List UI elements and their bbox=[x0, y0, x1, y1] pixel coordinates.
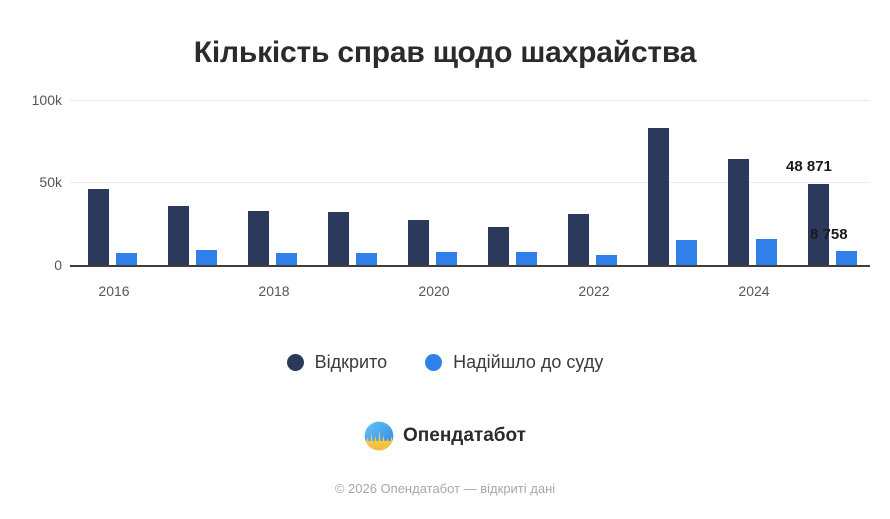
bar-open-2016[interactable] bbox=[88, 189, 109, 265]
chart-title: Кількість справ щодо шахрайства bbox=[0, 36, 890, 70]
bar-open-2018[interactable] bbox=[248, 211, 269, 265]
legend-item-court[interactable]: Надійшло до суду bbox=[425, 352, 603, 373]
data-label-court-2025: 8 758 bbox=[810, 226, 848, 243]
bar-court-2016[interactable] bbox=[116, 253, 137, 265]
brand-name: Опендатабот bbox=[403, 425, 526, 447]
y-tick-50k: 50k bbox=[2, 174, 62, 190]
bar-open-2021[interactable] bbox=[488, 227, 509, 265]
bar-open-2020[interactable] bbox=[408, 220, 429, 265]
bar-open-2024[interactable] bbox=[728, 159, 749, 265]
bar-group-2024 bbox=[728, 100, 778, 265]
legend-item-open[interactable]: Відкрито bbox=[287, 352, 388, 373]
bar-court-2017[interactable] bbox=[196, 250, 217, 265]
data-label-open-2025: 48 871 bbox=[786, 158, 832, 175]
bar-group-2016 bbox=[88, 100, 138, 265]
bar-open-2019[interactable] bbox=[328, 212, 349, 265]
legend-color-dot bbox=[425, 354, 442, 371]
bar-court-2020[interactable] bbox=[436, 252, 457, 265]
x-axis: 20162018202020222024 bbox=[70, 283, 870, 305]
bar-group-2018 bbox=[248, 100, 298, 265]
bar-court-2019[interactable] bbox=[356, 253, 377, 265]
bar-court-2023[interactable] bbox=[676, 240, 697, 265]
bar-group-2017 bbox=[168, 100, 218, 265]
plot-area bbox=[70, 95, 870, 270]
y-axis: 100k 50k 0 bbox=[0, 95, 62, 275]
bar-open-2025[interactable] bbox=[808, 184, 829, 265]
bar-court-2025[interactable] bbox=[836, 251, 857, 265]
bar-court-2024[interactable] bbox=[756, 239, 777, 265]
bar-group-2023 bbox=[648, 100, 698, 265]
y-tick-100k: 100k bbox=[2, 92, 62, 108]
brand-block: Опендатабот bbox=[0, 421, 890, 451]
bar-group-2022 bbox=[568, 100, 618, 265]
bar-open-2023[interactable] bbox=[648, 128, 669, 265]
bar-open-2017[interactable] bbox=[168, 206, 189, 265]
y-tick-0: 0 bbox=[2, 257, 62, 273]
chart-legend: ВідкритоНадійшло до суду bbox=[0, 352, 890, 373]
legend-label: Відкрито bbox=[315, 352, 388, 373]
bar-group-2021 bbox=[488, 100, 538, 265]
x-tick-2018: 2018 bbox=[244, 283, 304, 299]
bar-court-2018[interactable] bbox=[276, 253, 297, 265]
legend-label: Надійшло до суду bbox=[453, 352, 603, 373]
bar-court-2021[interactable] bbox=[516, 252, 537, 265]
opendatabot-logo-icon bbox=[364, 421, 394, 451]
bar-group-2019 bbox=[328, 100, 378, 265]
bar-group-2020 bbox=[408, 100, 458, 265]
footer-copyright: © 2026 Опендатабот — відкриті дані bbox=[0, 481, 890, 496]
x-tick-2020: 2020 bbox=[404, 283, 464, 299]
x-tick-2024: 2024 bbox=[724, 283, 784, 299]
x-tick-2022: 2022 bbox=[564, 283, 624, 299]
x-axis-baseline bbox=[70, 265, 870, 267]
x-tick-2016: 2016 bbox=[84, 283, 144, 299]
bar-open-2022[interactable] bbox=[568, 214, 589, 265]
fraud-cases-chart-card: Кількість справ щодо шахрайства 100k 50k… bbox=[0, 0, 890, 519]
bar-court-2022[interactable] bbox=[596, 255, 617, 265]
legend-color-dot bbox=[287, 354, 304, 371]
